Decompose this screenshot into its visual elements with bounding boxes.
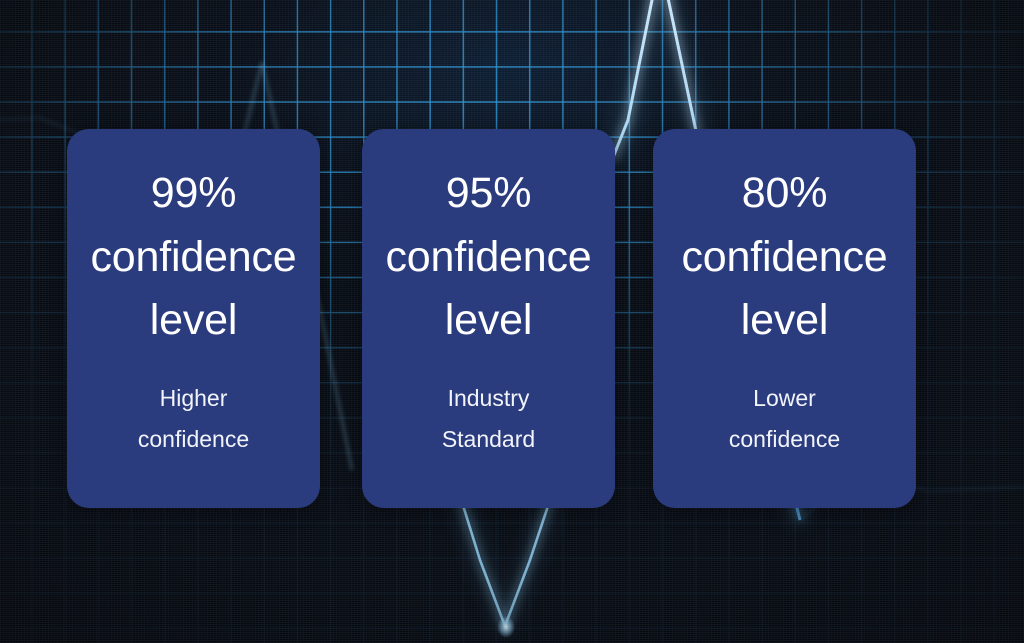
card-headline: 80% confidence level <box>682 162 888 353</box>
card-sublabel: Higher confidence <box>138 378 249 460</box>
confidence-card-99[interactable]: 99% confidence level Higher confidence <box>67 129 320 508</box>
confidence-card-80[interactable]: 80% confidence level Lower confidence <box>653 129 916 508</box>
confidence-card-group: 99% confidence level Higher confidence 9… <box>0 0 1024 643</box>
card-sublabel: Lower confidence <box>729 378 840 460</box>
card-headline: 95% confidence level <box>386 162 592 353</box>
confidence-card-95[interactable]: 95% confidence level Industry Standard <box>362 129 615 508</box>
card-headline: 99% confidence level <box>91 162 297 353</box>
card-sublabel: Industry Standard <box>442 378 535 460</box>
confidence-level-graphic: 99% confidence level Higher confidence 9… <box>0 0 1024 643</box>
